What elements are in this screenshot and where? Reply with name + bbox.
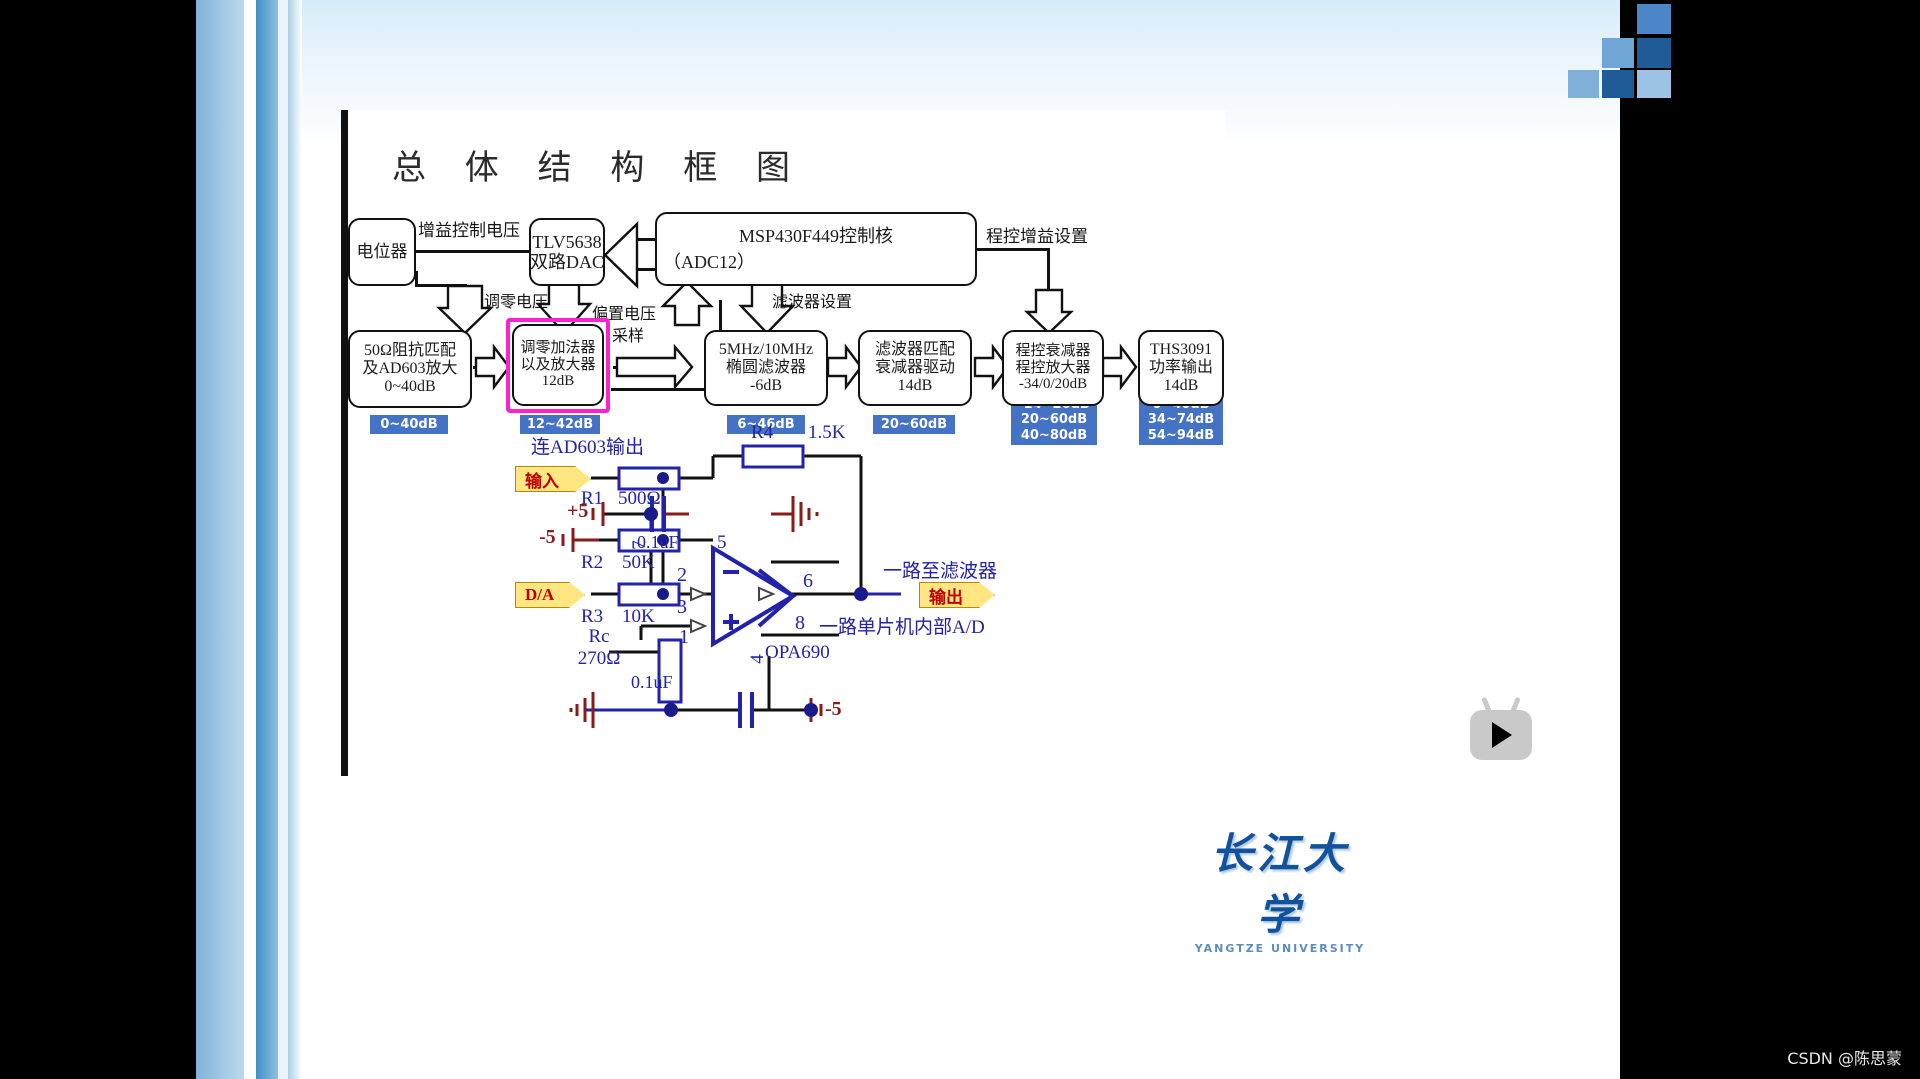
badge-power-out-line-1: 34~74dB: [1139, 412, 1223, 427]
play-triangle-icon: [1492, 722, 1512, 748]
block-potentiometer-line-0: 电位器: [357, 242, 408, 261]
block-input-stage[interactable]: 50Ω阻抗匹配 及AD603放大 0~40dB: [348, 330, 472, 408]
decor-square-5: [1637, 38, 1671, 68]
decor-square-4: [1637, 4, 1671, 34]
label-out-note-filter: 一路至滤波器: [883, 556, 997, 583]
label-zero-voltage: 调零电压: [484, 288, 548, 312]
label-rc-value: 270Ω: [569, 648, 629, 670]
block-filter-match[interactable]: 滤波器匹配 衰减器驱动 14dB: [858, 330, 972, 406]
label-r3-name: R3: [581, 606, 603, 627]
label-program-gain-setting: 程控增益设置: [986, 222, 1088, 247]
arrow-mcu-to-dac-head: [603, 222, 637, 288]
block-pga[interactable]: 程控衰减器 程控放大器 -34/0/20dB: [1002, 330, 1104, 406]
block-mcu[interactable]: MSP430F449控制核 （ADC12）: [655, 212, 977, 286]
block-dac-line-1: 双路DAC: [530, 252, 604, 272]
theme-bar-4: [278, 0, 288, 1079]
theme-bar-1: [196, 0, 244, 1079]
block-pga-line-0: 程控衰减器: [1015, 343, 1090, 360]
label-pin-noninv: 3: [677, 596, 687, 619]
label-r2: R2 50K: [581, 552, 655, 574]
wire-mcu-to-pga: [976, 248, 1050, 251]
label-bias-voltage-sampling: 采样: [612, 322, 644, 346]
block-power-out-line-2: 14dB: [1164, 377, 1199, 395]
label-r2-value: 50K: [622, 552, 655, 573]
screenshot-root: 总 体 结 构 框 图: [0, 0, 1920, 1079]
label-source-note: 连AD603输出: [531, 432, 644, 459]
block-power-out-line-1: 功率输出: [1149, 359, 1213, 377]
university-name-en: YANGTZE UNIVERSITY: [1190, 942, 1370, 955]
decor-square-6: [1637, 70, 1671, 98]
block-input-stage-line-1: 及AD603放大: [362, 360, 457, 378]
schematic-opa690: 连AD603输出 输入 R1 500Ω -5 R2 50K D/A R3 10K…: [341, 430, 1225, 780]
flag-output-label: 输出: [929, 583, 963, 608]
block-filter-match-line-2: 14dB: [898, 377, 933, 395]
label-pin-vplus: 7: [629, 540, 651, 550]
block-filter[interactable]: 5MHz/10MHz 椭圆滤波器 -6dB: [704, 330, 828, 406]
flag-input-label: 输入: [525, 467, 559, 492]
arrow-stage5-to-stage6: [1103, 346, 1137, 388]
block-pga-line-1: 程控放大器: [1015, 360, 1090, 377]
block-input-stage-line-2: 0~40dB: [384, 378, 435, 396]
label-pin-ref: 5: [717, 532, 727, 554]
arrow-mcu-to-pga-head: [1026, 290, 1072, 334]
block-filter-line-1: 椭圆滤波器: [726, 359, 806, 377]
theme-bar-5: [288, 0, 302, 1079]
label-pin-inv: 2: [677, 564, 687, 587]
label-r1-value: 500Ω: [618, 488, 661, 509]
label-gain-control-voltage: 增益控制电压: [418, 216, 520, 241]
block-pga-line-2: -34/0/20dB: [1019, 376, 1087, 393]
block-filter-line-0: 5MHz/10MHz: [719, 341, 813, 359]
page-title: 总 体 结 构 框 图: [392, 140, 804, 189]
arrow-stage2-to-stage3: [617, 346, 693, 388]
label-pin-out: 6: [803, 570, 813, 593]
block-filter-match-line-0: 滤波器匹配: [875, 341, 955, 359]
resistor-r1: [619, 468, 679, 489]
badge-pga-line-1: 20~60dB: [1011, 412, 1097, 427]
label-filter-setting: 滤波器设置: [772, 288, 852, 312]
credit-watermark: CSDN @陈思蒙: [1787, 1045, 1902, 1069]
flag-output: 输出: [919, 582, 995, 608]
label-rc-name: Rc: [569, 626, 629, 648]
block-power-out[interactable]: THS3091 功率输出 14dB: [1138, 330, 1224, 406]
label-rail-pos-top: +5: [567, 500, 588, 523]
label-out-note-adc: 一路单片机内部A/D: [819, 612, 985, 639]
decor-square-1: [1568, 70, 1599, 98]
schematic-svg: [341, 430, 1225, 780]
label-r1: R1 500Ω: [581, 488, 661, 510]
block-power-out-line-0: THS3091: [1150, 341, 1212, 359]
arrow-bias-sample-to-mcu: [662, 282, 712, 326]
label-r2-name: R2: [581, 552, 603, 573]
highlight-frame-zero-adder: [506, 318, 610, 413]
wire-pot-to-dac: [415, 250, 531, 253]
label-r4: R4 1.5K: [751, 422, 845, 444]
resistor-r4: [743, 446, 803, 467]
decor-square-2: [1602, 38, 1634, 68]
resistor-r3: [619, 584, 679, 605]
label-cap-2: 0.1uF: [631, 672, 673, 693]
block-dac[interactable]: TLV5638 双路DAC: [529, 218, 605, 286]
label-pin-aux: 8: [795, 612, 805, 635]
university-name-cn: 长江大学: [1190, 820, 1370, 942]
flag-input: 输入: [515, 466, 591, 492]
block-filter-line-2: -6dB: [750, 377, 782, 395]
label-rail-neg-bottom: -5: [825, 698, 842, 721]
university-watermark: 长江大学 YANGTZE UNIVERSITY: [1190, 820, 1370, 955]
block-mcu-line-0: MSP430F449控制核: [657, 226, 975, 246]
block-dac-line-0: TLV5638: [532, 232, 601, 252]
decor-square-3: [1602, 70, 1634, 98]
block-input-stage-line-0: 50Ω阻抗匹配: [364, 342, 456, 360]
arrow-stage3-to-stage4: [828, 346, 862, 388]
label-rc: Rc 270Ω: [569, 626, 629, 670]
label-r4-name: R4: [751, 422, 773, 443]
label-r4-value: 1.5K: [808, 422, 845, 443]
block-mcu-line-1: （ADC12）: [657, 252, 975, 272]
label-r3: R3 10K: [581, 606, 655, 628]
block-potentiometer[interactable]: 电位器: [348, 218, 416, 286]
arrow-stage1-to-stage2: [476, 346, 510, 388]
label-opamp-part: OPA690: [765, 642, 830, 664]
label-rail-neg-in: -5: [539, 526, 556, 549]
label-pin-disable: 1: [679, 626, 689, 649]
label-r3-value: 10K: [622, 606, 655, 627]
theme-bar-2: [244, 0, 256, 1079]
theme-bar-3: [256, 0, 278, 1079]
flag-da-label: D/A: [525, 585, 554, 605]
block-filter-match-line-1: 衰减器驱动: [875, 359, 955, 377]
